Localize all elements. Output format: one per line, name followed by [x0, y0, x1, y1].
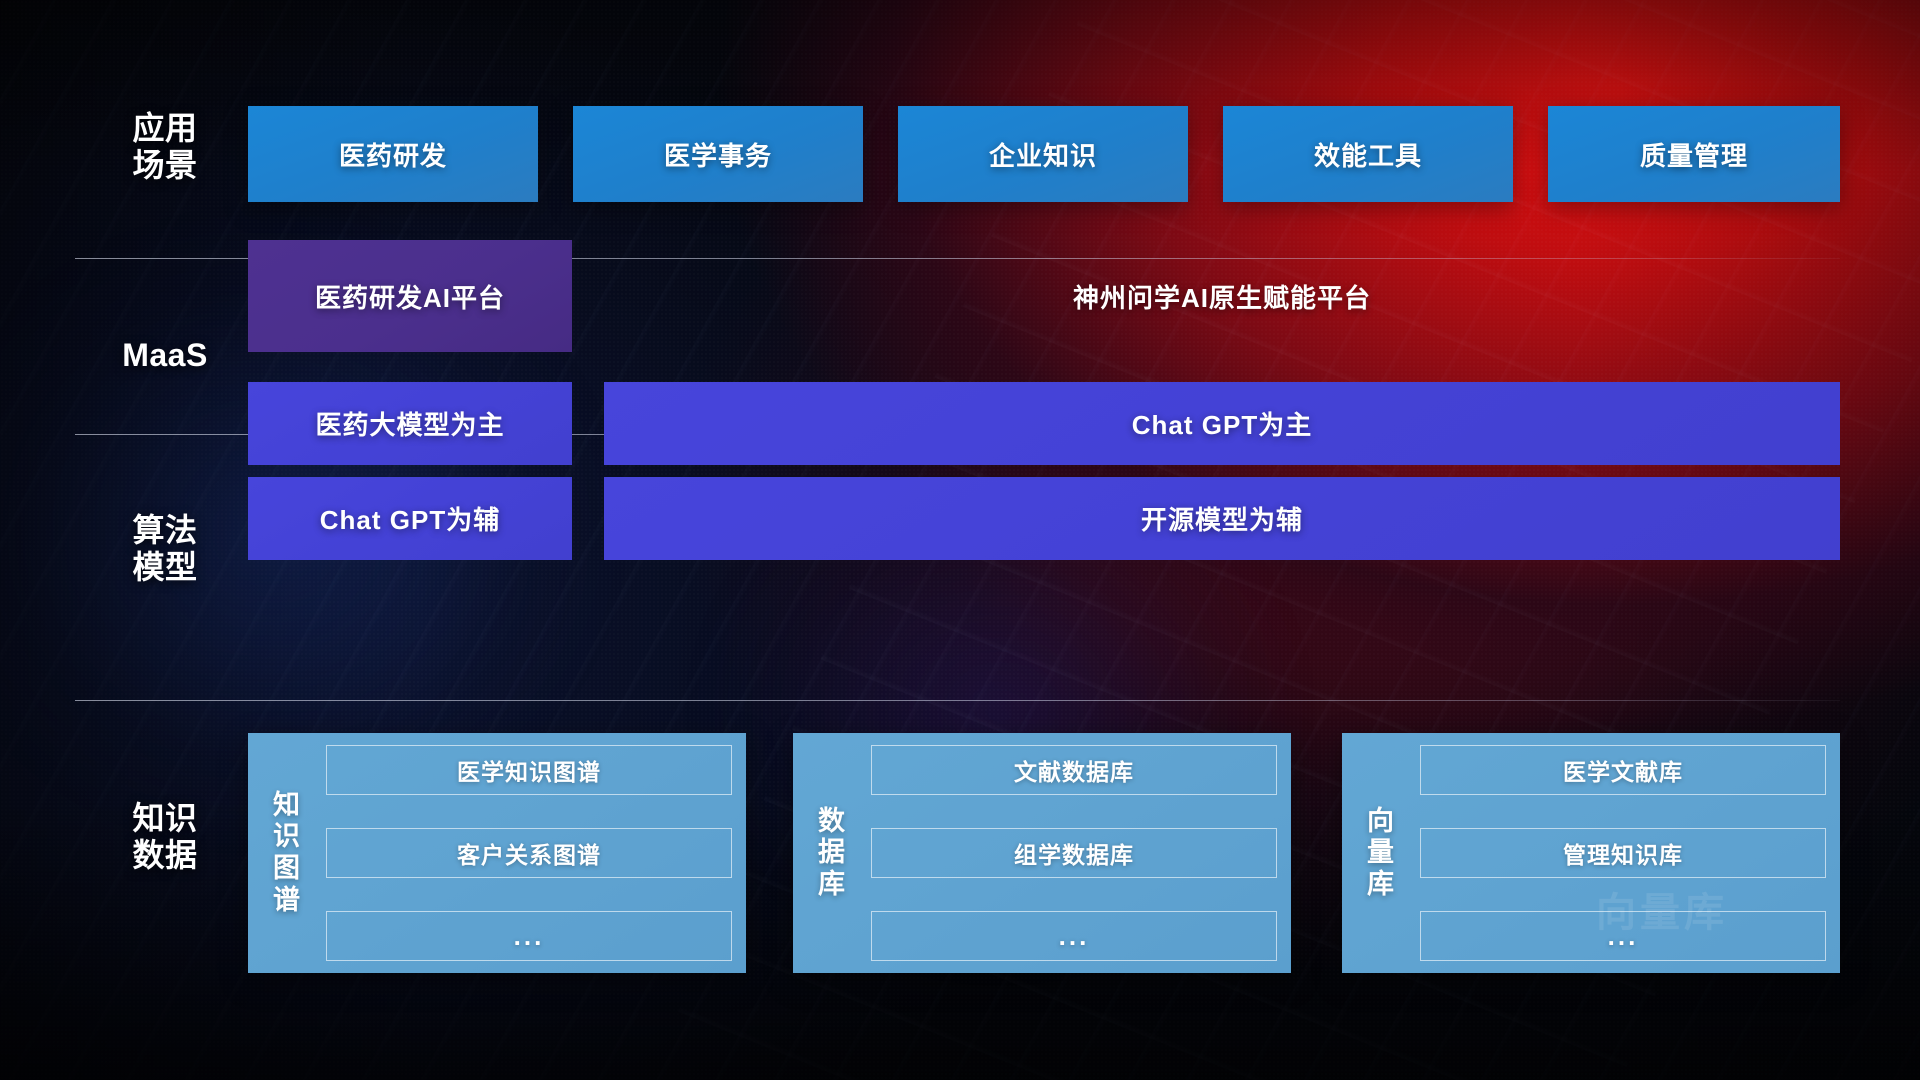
knowledge-group-vector-store[interactable]: 向量库 医学文献库 管理知识库 ... — [1342, 733, 1840, 973]
algo-card-label: 开源模型为辅 — [1141, 500, 1303, 537]
app-card-enterprise-knowledge[interactable]: 企业知识 — [898, 106, 1188, 202]
knowledge-item[interactable]: 医学文献库 — [1420, 745, 1826, 795]
diagram-content: 应用 场景 医药研发 医学事务 企业知识 效能工具 质量管理 MaaS 医药研发… — [0, 0, 1920, 1080]
app-card-pharma-rd[interactable]: 医药研发 — [248, 106, 538, 202]
app-card-quality-management[interactable]: 质量管理 — [1548, 106, 1840, 202]
algo-card-opensource-secondary[interactable]: 开源模型为辅 — [604, 477, 1840, 560]
knowledge-item[interactable]: 组学数据库 — [871, 828, 1277, 878]
algo-card-label: Chat GPT为主 — [1132, 405, 1312, 442]
knowledge-item-list: 文献数据库 组学数据库 ... — [871, 745, 1277, 961]
row-label-application: 应用 场景 — [90, 110, 240, 184]
divider-algorithm-knowledge — [75, 700, 1840, 701]
knowledge-item-more[interactable]: ... — [871, 911, 1277, 961]
knowledge-group-database[interactable]: 数据库 文献数据库 组学数据库 ... — [793, 733, 1291, 973]
slide-canvas: 应用 场景 医药研发 医学事务 企业知识 效能工具 质量管理 MaaS 医药研发… — [0, 0, 1920, 1080]
knowledge-item[interactable]: 文献数据库 — [871, 745, 1277, 795]
algo-card-chatgpt-secondary[interactable]: Chat GPT为辅 — [248, 477, 572, 560]
algo-card-chatgpt-primary[interactable]: Chat GPT为主 — [604, 382, 1840, 465]
row-label-algorithm: 算法 模型 — [90, 512, 240, 586]
row-label-maas: MaaS — [90, 337, 240, 374]
knowledge-item-list: 医学知识图谱 客户关系图谱 ... — [326, 745, 732, 961]
row-label-knowledge: 知识 数据 — [90, 800, 240, 874]
app-card-label: 质量管理 — [1640, 136, 1748, 173]
knowledge-item[interactable]: 医学知识图谱 — [326, 745, 732, 795]
app-card-label: 企业知识 — [989, 136, 1097, 173]
maas-card-pharma-ai-platform[interactable]: 医药研发AI平台 — [248, 240, 572, 352]
knowledge-item-more[interactable]: ... — [1420, 911, 1826, 961]
maas-card-shenzhou-wenxue-platform[interactable]: 神州问学AI原生赋能平台 — [604, 240, 1840, 352]
knowledge-group-title: 数据库 — [805, 806, 859, 901]
knowledge-group-title: 知识图谱 — [260, 790, 314, 916]
knowledge-item-more[interactable]: ... — [326, 911, 732, 961]
algo-card-label: Chat GPT为辅 — [320, 500, 500, 537]
knowledge-item-list: 医学文献库 管理知识库 ... — [1420, 745, 1826, 961]
knowledge-group-title: 向量库 — [1354, 806, 1408, 901]
knowledge-item[interactable]: 客户关系图谱 — [326, 828, 732, 878]
app-card-label: 医学事务 — [664, 136, 772, 173]
app-card-label: 医药研发 — [339, 136, 447, 173]
knowledge-group-knowledge-graph[interactable]: 知识图谱 医学知识图谱 客户关系图谱 ... — [248, 733, 746, 973]
algo-card-pharma-llm-primary[interactable]: 医药大模型为主 — [248, 382, 572, 465]
app-card-efficiency-tools[interactable]: 效能工具 — [1223, 106, 1513, 202]
app-card-medical-affairs[interactable]: 医学事务 — [573, 106, 863, 202]
knowledge-item[interactable]: 管理知识库 — [1420, 828, 1826, 878]
maas-card-label: 神州问学AI原生赋能平台 — [1073, 278, 1371, 315]
maas-card-label: 医药研发AI平台 — [315, 278, 505, 315]
algo-card-label: 医药大模型为主 — [315, 405, 504, 442]
app-card-label: 效能工具 — [1314, 136, 1422, 173]
